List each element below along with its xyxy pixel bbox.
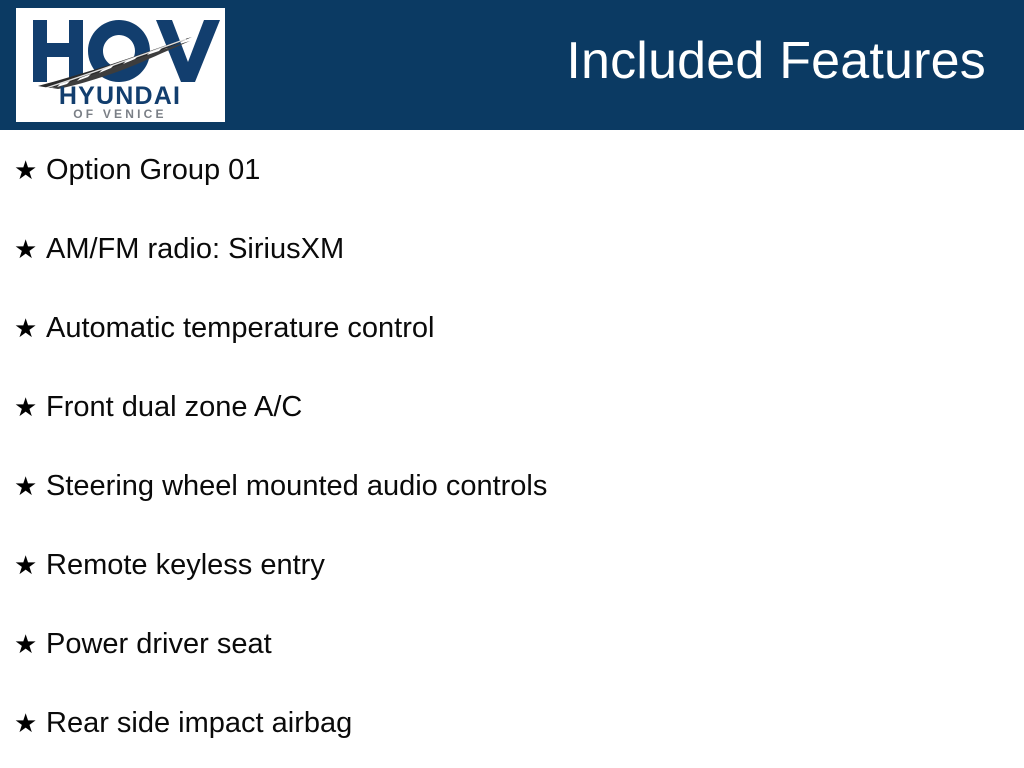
list-item: ★ Remote keyless entry xyxy=(0,525,1024,604)
star-bullet-icon: ★ xyxy=(14,473,46,499)
list-item: ★ Automatic temperature control xyxy=(0,288,1024,367)
star-bullet-icon: ★ xyxy=(14,710,46,736)
star-bullet-icon: ★ xyxy=(14,552,46,578)
feature-label: Option Group 01 xyxy=(46,153,260,187)
feature-label: Automatic temperature control xyxy=(46,311,434,345)
logo-of-venice-text: OF VENICE xyxy=(73,107,166,121)
feature-label: Front dual zone A/C xyxy=(46,390,302,424)
star-bullet-icon: ★ xyxy=(14,157,46,183)
logo-hyundai-text: HYUNDAI xyxy=(59,82,181,110)
feature-label: Power driver seat xyxy=(46,627,272,661)
list-item: ★ Option Group 01 xyxy=(0,130,1024,209)
star-bullet-icon: ★ xyxy=(14,236,46,262)
page-title: Included Features xyxy=(566,29,986,93)
list-item: ★ Rear side impact airbag xyxy=(0,683,1024,762)
hov-logo-icon: HYUNDAI OF VENICE xyxy=(16,8,225,122)
list-item: ★ AM/FM radio: SiriusXM xyxy=(0,209,1024,288)
star-bullet-icon: ★ xyxy=(14,394,46,420)
dealer-logo: HYUNDAI OF VENICE xyxy=(16,8,225,122)
star-bullet-icon: ★ xyxy=(14,631,46,657)
feature-label: Rear side impact airbag xyxy=(46,706,352,740)
star-bullet-icon: ★ xyxy=(14,315,46,341)
list-item: ★ Steering wheel mounted audio controls xyxy=(0,446,1024,525)
included-features-list: ★ Option Group 01 ★ AM/FM radio: SiriusX… xyxy=(0,130,1024,768)
header-bar: HYUNDAI OF VENICE Included Features xyxy=(0,0,1024,130)
slide: HYUNDAI OF VENICE Included Features ★ Op… xyxy=(0,0,1024,768)
list-item: ★ Front dual zone A/C xyxy=(0,367,1024,446)
list-item: ★ Power driver seat xyxy=(0,604,1024,683)
feature-label: Steering wheel mounted audio controls xyxy=(46,469,547,503)
feature-label: Remote keyless entry xyxy=(46,548,325,582)
feature-label: AM/FM radio: SiriusXM xyxy=(46,232,344,266)
